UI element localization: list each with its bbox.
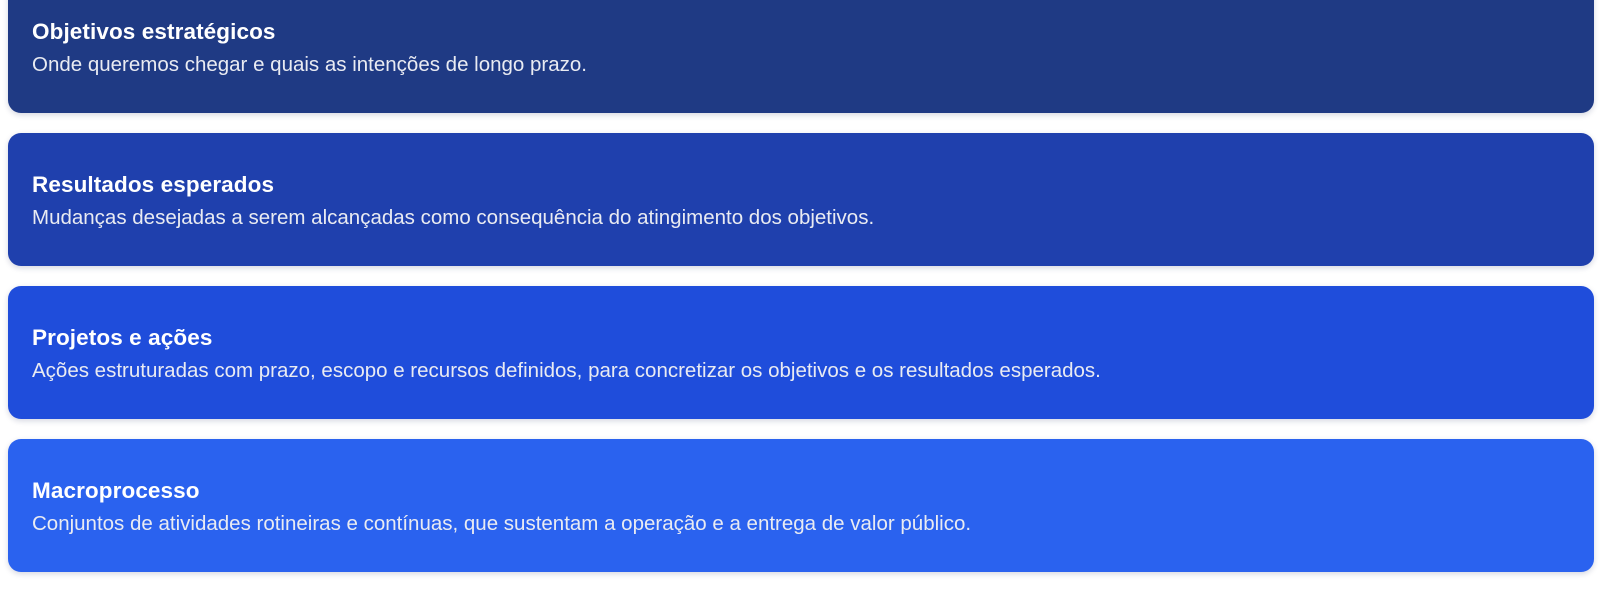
hierarchy-card-stack: Objetivos estratégicos Onde queremos che…	[0, 0, 1602, 593]
card-resultados-esperados[interactable]: Resultados esperados Mudanças desejadas …	[8, 133, 1594, 266]
card-title: Resultados esperados	[32, 171, 1570, 200]
card-title: Objetivos estratégicos	[32, 18, 1570, 47]
card-objetivos-estrategicos[interactable]: Objetivos estratégicos Onde queremos che…	[8, 0, 1594, 113]
card-description: Ações estruturadas com prazo, escopo e r…	[32, 358, 1570, 385]
card-title: Projetos e ações	[32, 324, 1570, 353]
card-title: Macroprocesso	[32, 477, 1570, 506]
card-projetos-e-acoes[interactable]: Projetos e ações Ações estruturadas com …	[8, 286, 1594, 419]
card-description: Mudanças desejadas a serem alcançadas co…	[32, 205, 1570, 232]
card-description: Conjuntos de atividades rotineiras e con…	[32, 511, 1570, 538]
card-macroprocesso[interactable]: Macroprocesso Conjuntos de atividades ro…	[8, 439, 1594, 572]
card-description: Onde queremos chegar e quais as intençõe…	[32, 52, 1570, 79]
